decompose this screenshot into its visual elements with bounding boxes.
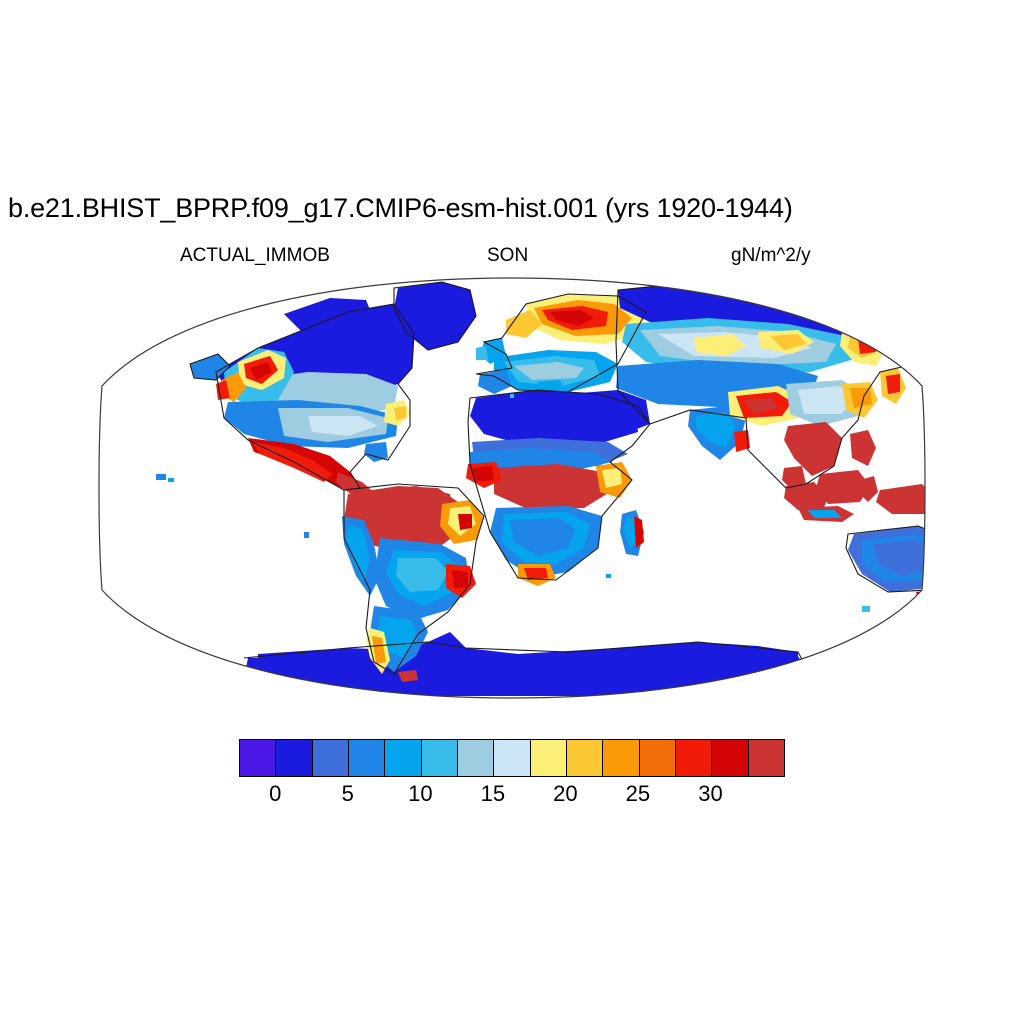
map-data-layer	[98, 276, 926, 700]
colorbar-swatch-10	[603, 740, 639, 776]
colorbar-tick-25: 25	[626, 781, 650, 807]
world-map	[98, 276, 926, 700]
colorbar-swatch-0	[240, 740, 276, 776]
colorbar-swatch-13	[712, 740, 748, 776]
figure-canvas: b.e21.BHIST_BPRP.f09_g17.CMIP6-esm-hist.…	[0, 0, 1024, 1024]
colorbar-swatch-4	[385, 740, 421, 776]
colorbar-swatch-1	[276, 740, 312, 776]
colorbar-swatch-5	[422, 740, 458, 776]
colorbar-swatch-3	[349, 740, 385, 776]
colorbar-swatch-14	[749, 740, 784, 776]
colorbar-tick-30: 30	[698, 781, 722, 807]
colorbar-swatch-12	[676, 740, 712, 776]
colorbar-swatch-8	[531, 740, 567, 776]
colorbar-tick-5: 5	[342, 781, 354, 807]
variable-label: ACTUAL_IMMOB	[180, 245, 330, 267]
colorbar-tick-15: 15	[481, 781, 505, 807]
colorbar-tick-0: 0	[269, 781, 281, 807]
colorbar-swatch-6	[458, 740, 494, 776]
colorbar-swatch-11	[640, 740, 676, 776]
colorbar[interactable]	[239, 739, 785, 777]
colorbar-swatch-9	[567, 740, 603, 776]
map-svg	[98, 276, 926, 700]
colorbar-tick-20: 20	[553, 781, 577, 807]
colorbar-swatch-2	[313, 740, 349, 776]
page-title: b.e21.BHIST_BPRP.f09_g17.CMIP6-esm-hist.…	[8, 192, 1018, 224]
units-label: gN/m^2/y	[731, 245, 811, 267]
season-label: SON	[487, 245, 528, 267]
colorbar-tick-labels: 051015202530	[239, 781, 785, 811]
colorbar-swatch-7	[494, 740, 530, 776]
colorbar-tick-10: 10	[408, 781, 432, 807]
